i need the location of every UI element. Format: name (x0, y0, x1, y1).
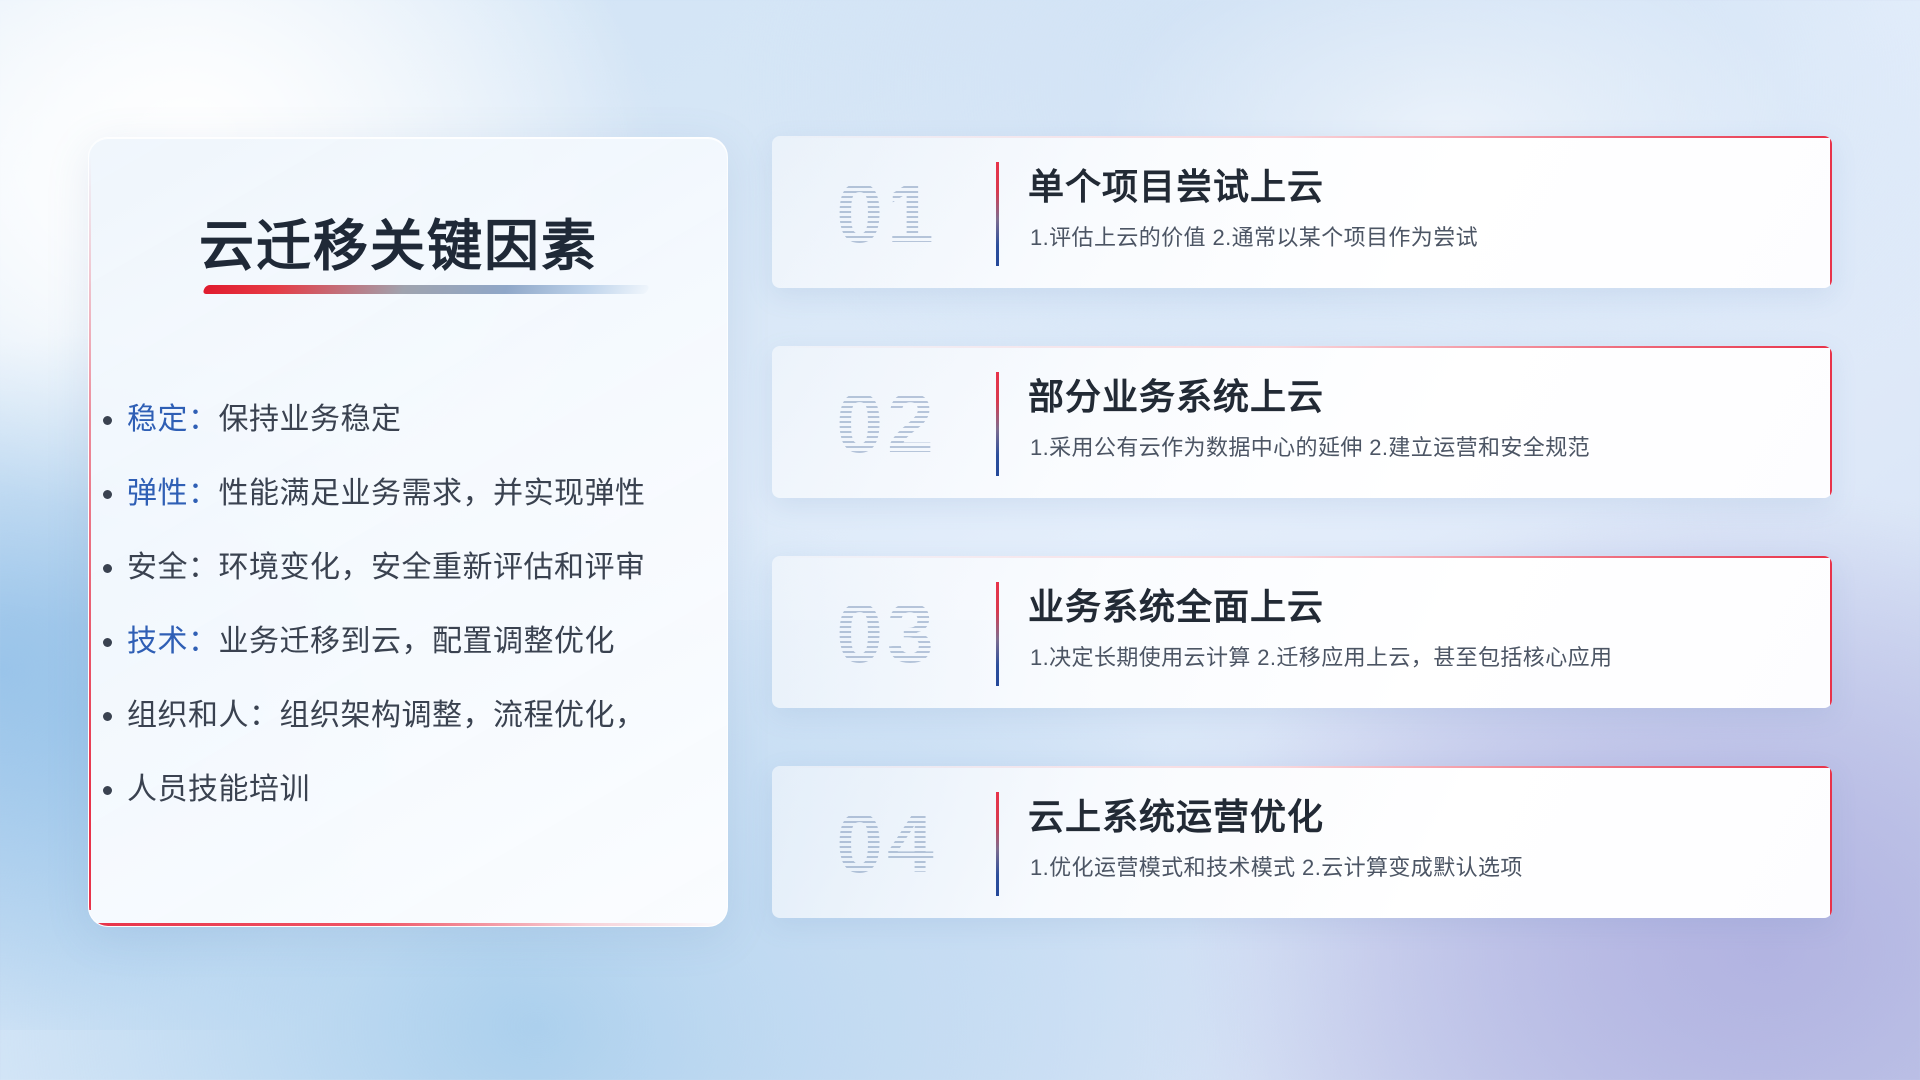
step-number: 03 (798, 574, 976, 692)
key-factor-text: 人员技能培训 (127, 773, 310, 806)
page-title: 云迁移关键因素 (199, 201, 598, 281)
key-factors-card: 云迁移关键因素 稳定：保持业务稳定弹性：性能满足业务需求，并实现弹性安全：环境变… (88, 137, 728, 927)
step-number: 04 (798, 784, 976, 902)
step-divider-bar (996, 582, 999, 686)
step-subtitle: 1.决定长期使用云计算 2.迁移应用上云，甚至包括核心应用 (1030, 640, 1612, 672)
key-factor-label: 稳定： (127, 403, 219, 436)
step-card-02[interactable]: 02部分业务系统上云1.采用公有云作为数据中心的延伸 2.建立运营和安全规范 (772, 346, 1832, 498)
step-subtitle: 1.优化运营模式和技术模式 2.云计算变成默认选项 (1030, 850, 1523, 882)
key-factor-text: 组织架构调整，流程优化， (280, 699, 646, 732)
key-factor-label: 组织和人： (127, 699, 280, 732)
key-factor-item: 安全：环境变化，安全重新评估和评审 (127, 531, 697, 605)
step-card-03[interactable]: 03业务系统全面上云1.决定长期使用云计算 2.迁移应用上云，甚至包括核心应用 (772, 556, 1832, 708)
step-title: 单个项目尝试上云 (1028, 158, 1324, 210)
migration-steps-list: 01单个项目尝试上云1.评估上云的价值 2.通常以某个项目作为尝试02部分业务系… (772, 136, 1832, 976)
title-underline-gradient (202, 285, 650, 294)
step-subtitle: 1.评估上云的价值 2.通常以某个项目作为尝试 (1030, 220, 1478, 252)
key-factor-item: 技术：业务迁移到云，配置调整优化 (127, 605, 697, 679)
key-factors-list: 稳定：保持业务稳定弹性：性能满足业务需求，并实现弹性安全：环境变化，安全重新评估… (127, 383, 697, 827)
step-card-01[interactable]: 01单个项目尝试上云1.评估上云的价值 2.通常以某个项目作为尝试 (772, 136, 1832, 288)
step-divider-bar (996, 792, 999, 896)
step-number-text: 02 (836, 376, 937, 470)
step-title: 业务系统全面上云 (1028, 578, 1324, 630)
key-factor-text: 环境变化，安全重新评估和评审 (219, 551, 646, 584)
step-number-text: 04 (836, 796, 937, 890)
key-factor-item: 弹性：性能满足业务需求，并实现弹性 (127, 457, 697, 531)
step-subtitle: 1.采用公有云作为数据中心的延伸 2.建立运营和安全规范 (1030, 430, 1590, 462)
key-factor-label: 弹性： (127, 477, 219, 510)
step-title: 云上系统运营优化 (1028, 788, 1324, 840)
key-factor-item: 稳定：保持业务稳定 (127, 383, 697, 457)
step-number: 01 (798, 154, 976, 272)
key-factor-text: 业务迁移到云，配置调整优化 (219, 625, 616, 658)
step-card-04[interactable]: 04云上系统运营优化1.优化运营模式和技术模式 2.云计算变成默认选项 (772, 766, 1832, 918)
step-title: 部分业务系统上云 (1028, 368, 1324, 420)
step-divider-bar (996, 162, 999, 266)
step-divider-bar (996, 372, 999, 476)
key-factor-label: 安全： (127, 551, 219, 584)
key-factor-item: 组织和人：组织架构调整，流程优化， (127, 679, 697, 753)
step-number-text: 01 (836, 166, 937, 260)
step-number-text: 03 (836, 586, 937, 680)
key-factor-text: 保持业务稳定 (219, 403, 402, 436)
key-factor-item: 人员技能培训 (127, 753, 697, 827)
key-factor-label: 技术： (127, 625, 219, 658)
step-number: 02 (798, 364, 976, 482)
key-factor-text: 性能满足业务需求，并实现弹性 (219, 477, 646, 510)
